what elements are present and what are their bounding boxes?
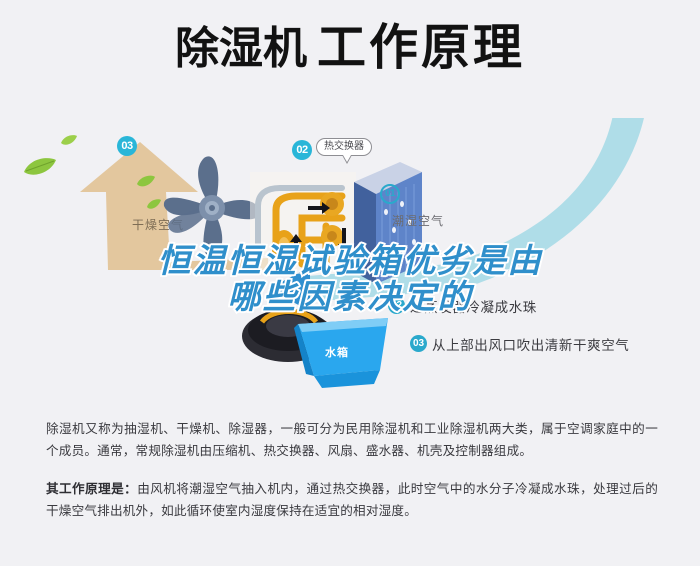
callout-tail-icon [342,155,352,164]
page-title-part2: 工作原理 [317,24,525,73]
badge-03-dry-air: 03 [117,136,137,156]
article-paragraph-2-rest: 由风机将潮湿空气抽入机内，通过热交换器，此时空气中的水分子冷凝成水珠，处理过后的… [46,482,658,518]
water-tank-label: 水箱 [325,344,349,360]
caption-badge-03: 03 [410,335,427,352]
badge-01-humid-air: 01 [380,184,400,204]
leaf-icon [60,134,78,147]
page-title-part1: 除湿机 [175,27,307,71]
caption-line-02: 过蒸发器冷凝成水珠 [410,296,537,316]
article-paragraph-1: 除湿机又称为抽湿机、干燥机、除湿器，一般可分为民用除湿机和工业除湿机两大类，属于… [46,418,658,462]
article-paragraph-2: 其工作原理是：由风机将潮湿空气抽入机内，通过热交换器，此时空气中的水分子冷凝成水… [46,478,658,522]
article-body: 除湿机又称为抽湿机、干燥机、除湿器，一般可分为民用除湿机和工业除湿机两大类，属于… [46,418,658,522]
badge-02-heat-exchanger: 02 [292,140,312,160]
caption-line-03: 从上部出风口吹出清新干爽空气 [432,334,629,354]
page-title: 除湿机工作原理 [0,24,700,73]
page-root: 除湿机工作原理 干燥空气 [0,0,700,566]
caption-badge-02: 02 [388,297,405,314]
heat-exchanger-callout: 热交换器 [316,138,372,156]
dehumidifier-diagram: 干燥空气 [0,118,700,398]
article-paragraph-2-lead: 其工作原理是： [46,482,137,496]
humid-air-label: 潮湿空气 [392,212,444,229]
leaf-icon [136,174,156,189]
leaf-icon [22,156,58,178]
